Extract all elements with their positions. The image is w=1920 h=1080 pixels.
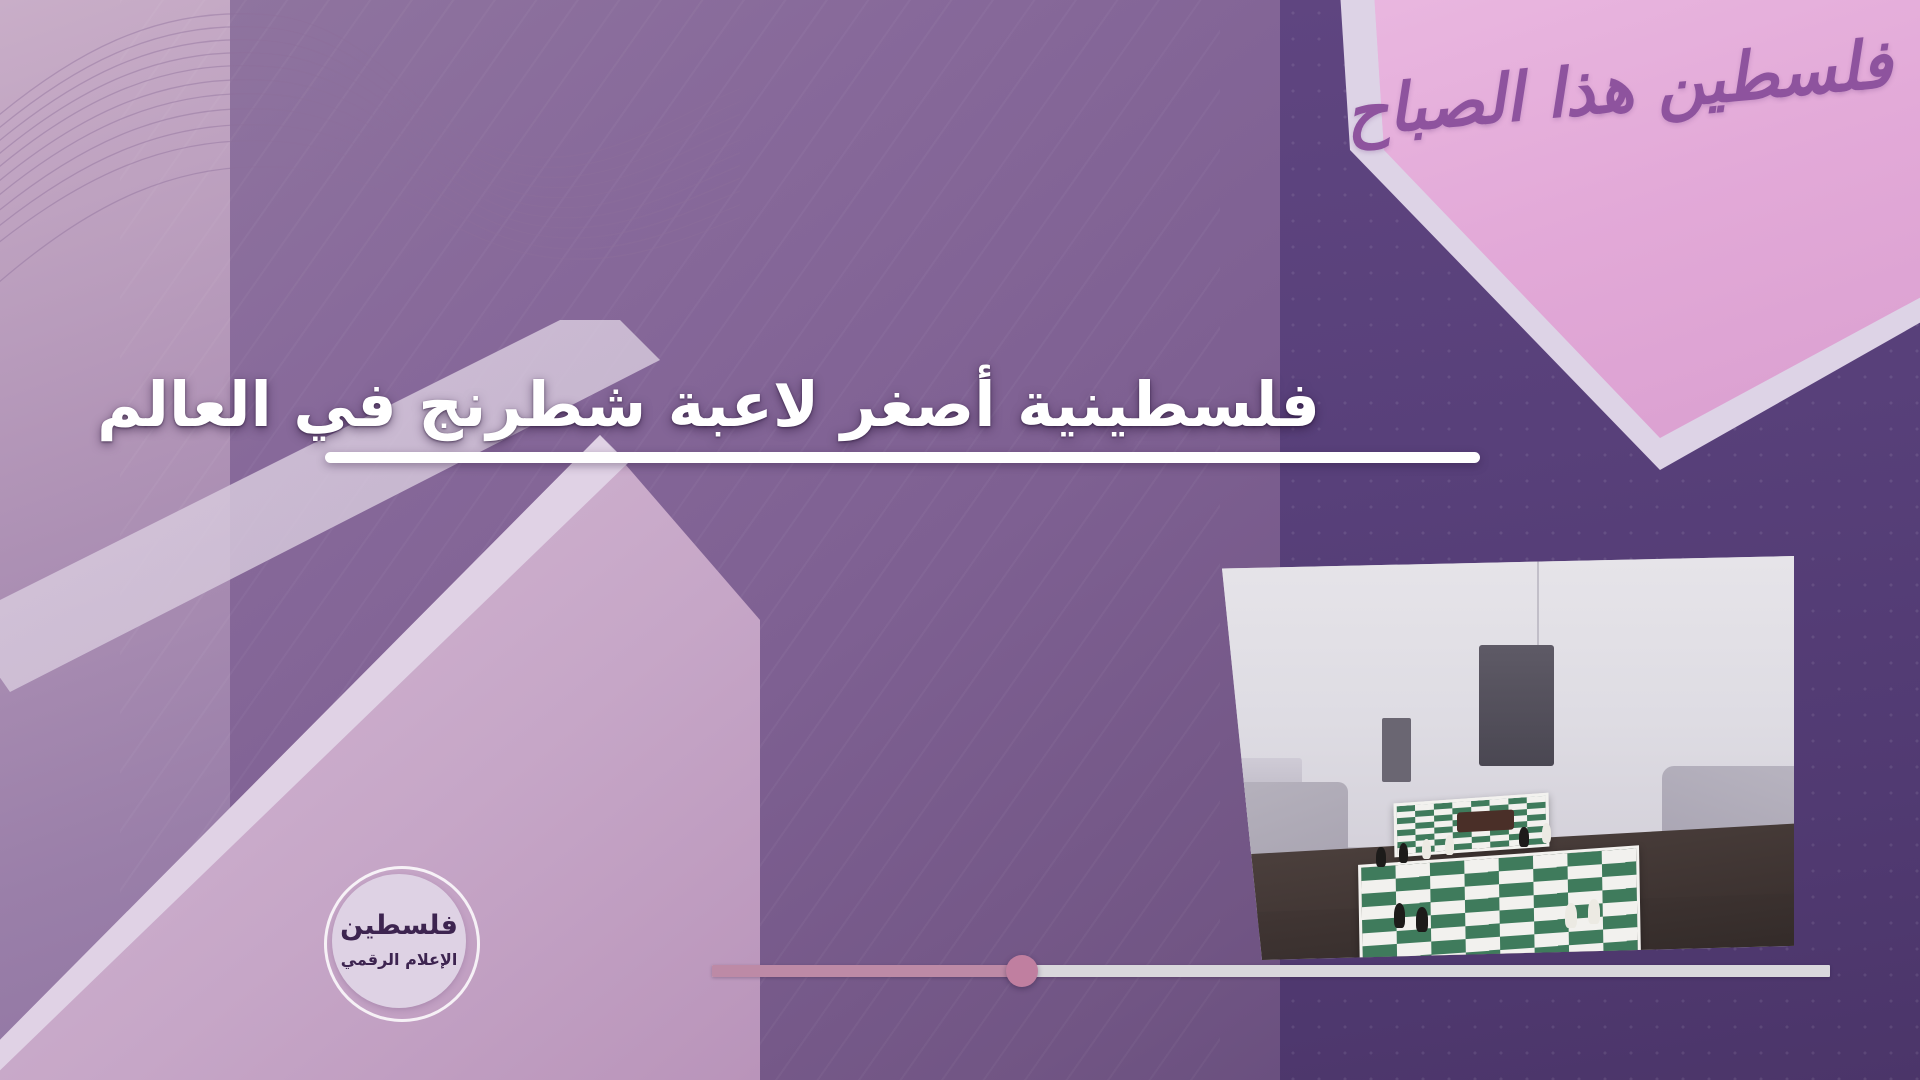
broadcast-lower-third-slate: فلسطين هذا الصباح فلسطينية أصغر لاعبة شط… (0, 0, 1920, 1080)
photo-chess-piece (1519, 827, 1528, 847)
photo-chess-piece (1588, 899, 1599, 923)
photo-chess-piece (1422, 839, 1431, 859)
photo-chess-piece (1565, 903, 1576, 927)
video-progress-bar[interactable] (712, 963, 1830, 979)
news-headline: فلسطينية أصغر لاعبة شطرنج في العالم (97, 368, 1320, 441)
photo-cabinet (1479, 645, 1553, 766)
news-photo-scene (1222, 556, 1794, 960)
photo-chess-piece (1416, 907, 1427, 931)
photo-chess-clock (1457, 809, 1514, 832)
progress-fill (712, 965, 1022, 977)
photo-chess-piece (1445, 835, 1454, 855)
photo-chess-piece (1376, 847, 1385, 867)
logo-subtitle: الإعلام الرقمي (324, 950, 474, 969)
progress-handle[interactable] (1006, 955, 1038, 987)
news-photo (1222, 556, 1794, 960)
headline-underline (325, 452, 1480, 463)
channel-logo: فلسطين الإعلام الرقمي (324, 866, 474, 1016)
photo-chess-piece (1394, 903, 1405, 927)
logo-disc (332, 874, 466, 1008)
photo-speaker (1382, 718, 1411, 783)
logo-wordmark: فلسطين (324, 910, 474, 941)
decorative-wave-lines (0, 0, 740, 320)
